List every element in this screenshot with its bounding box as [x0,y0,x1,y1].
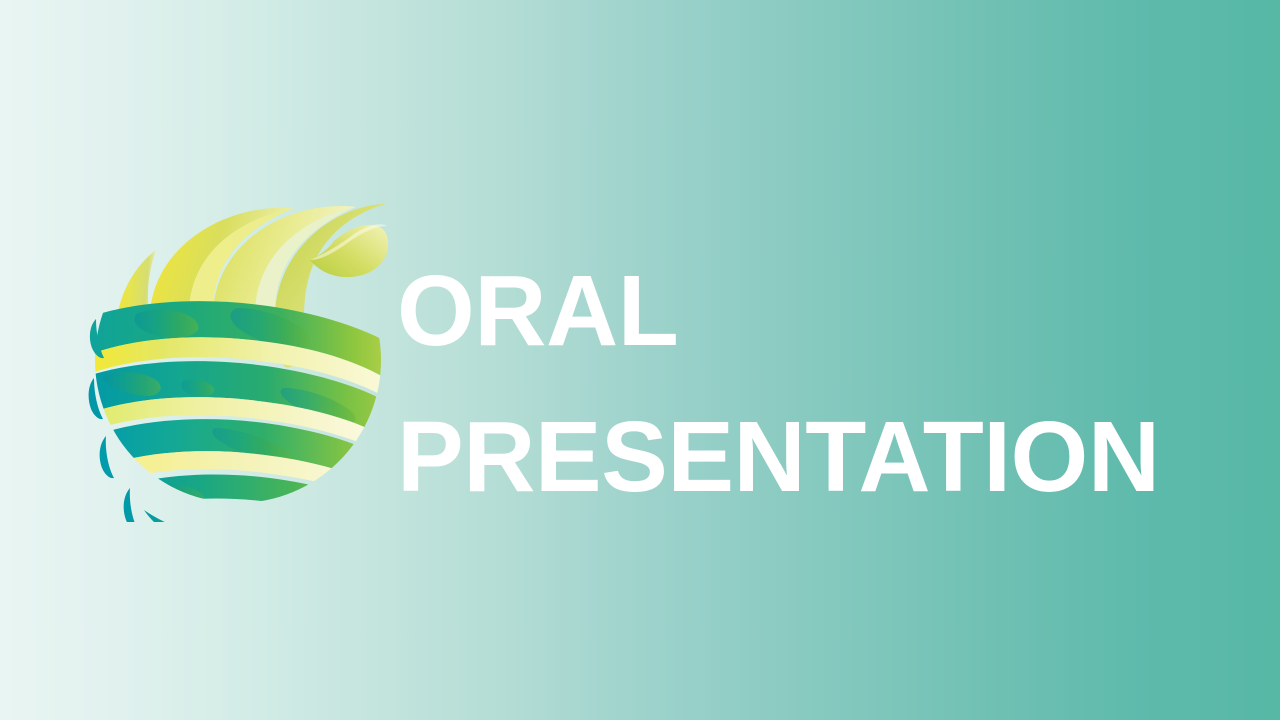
logo-sphere-bands [88,301,388,522]
title-line-presentation: PRESENTATION [397,384,1197,530]
title-line-oral: ORAL [397,238,1197,384]
logo-tip-4 [124,488,138,522]
slide-canvas: ORAL PRESENTATION [0,0,1280,720]
logo-svg [88,192,388,522]
logo-tip-3 [100,436,114,478]
slide-title-block: ORAL PRESENTATION [397,238,1197,530]
logo-bottom-tail [144,510,356,522]
spiral-globe-leaf-logo [88,192,388,522]
logo-tail-green [144,510,356,522]
logo-band-4 [118,474,388,522]
